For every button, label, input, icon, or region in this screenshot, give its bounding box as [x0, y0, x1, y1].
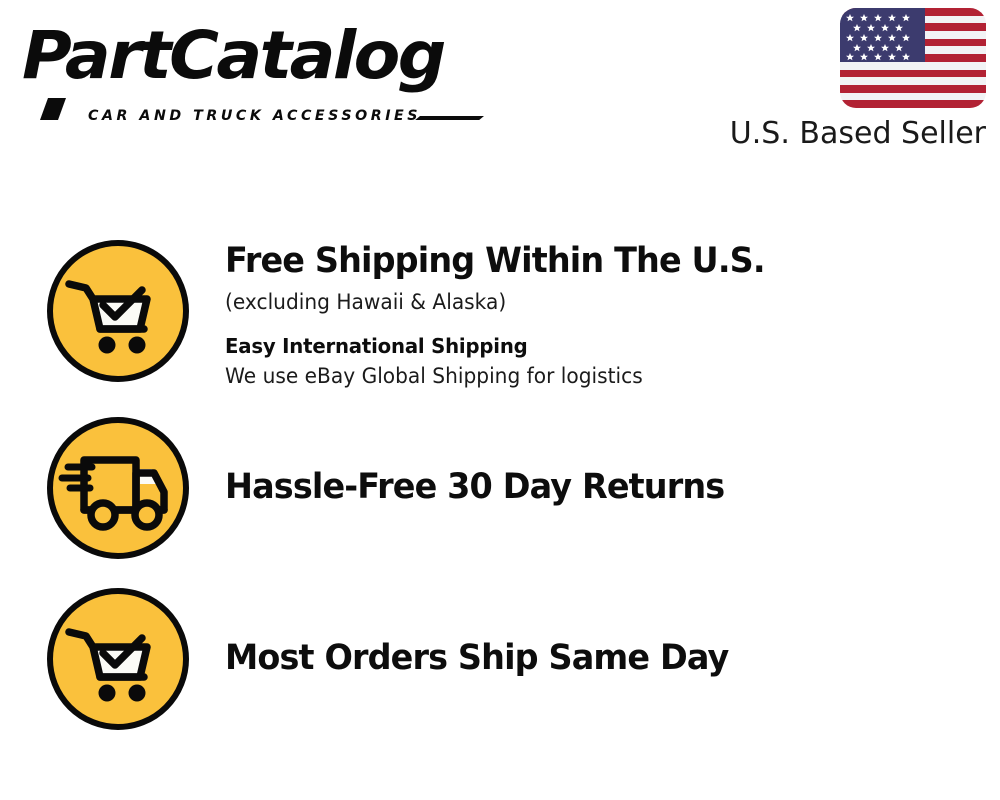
feature-secondary-title: Easy International Shipping	[225, 332, 969, 360]
feature-subtitle: (excluding Hawaii & Alaska)	[225, 288, 969, 316]
feature-row: Hassle-Free 30 Day Returns	[0, 414, 1000, 562]
feature-title: Most Orders Ship Same Day	[225, 636, 965, 680]
brand-tagline: CAR AND TRUCK ACCESSORIES	[88, 108, 421, 124]
feature-row: Most Orders Ship Same Day	[0, 585, 1000, 733]
flag-stars	[840, 8, 986, 108]
us-based-seller-badge: U.S. Based Seller	[711, 8, 986, 153]
feature-text-block: Free Shipping Within The U.S. (excluding…	[192, 237, 1000, 391]
feature-secondary-note: We use eBay Global Shipping for logistic…	[225, 362, 969, 391]
shipping-info-banner: PartCatalog CAR AND TRUCK ACCESSORIES	[0, 0, 1000, 800]
feature-text-block: Hassle-Free 30 Day Returns	[192, 414, 1000, 509]
feature-text-block: Most Orders Ship Same Day	[192, 585, 1000, 680]
shopping-cart-check-icon	[44, 237, 192, 385]
feature-row: Free Shipping Within The U.S. (excluding…	[0, 237, 1000, 391]
shopping-cart-check-icon	[44, 585, 192, 733]
us-based-seller-label: U.S. Based Seller	[711, 115, 986, 153]
brand-wordmark: PartCatalog	[22, 20, 444, 92]
delivery-truck-icon	[44, 414, 192, 562]
feature-title: Hassle-Free 30 Day Returns	[225, 465, 965, 509]
us-flag-icon	[840, 8, 986, 108]
feature-title: Free Shipping Within The U.S.	[225, 239, 965, 283]
brand-logo: PartCatalog CAR AND TRUCK ACCESSORIES	[22, 20, 492, 120]
